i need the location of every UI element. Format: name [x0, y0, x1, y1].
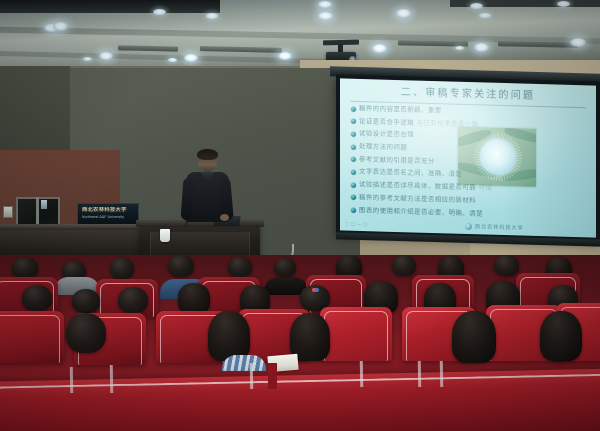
bullet-marker-icon	[351, 119, 356, 124]
seat-gap	[70, 367, 73, 393]
front-seat-row[interactable]	[0, 368, 600, 431]
ceiling-downlight	[206, 13, 218, 19]
slide-bullet-item: 试验描述是否详尽具体、数据是否可靠 可信	[351, 181, 590, 195]
audience-area	[0, 255, 600, 431]
venue-sign-chinese-text: 西北农林科技大学	[82, 207, 135, 213]
ceiling-downlight	[153, 9, 166, 15]
bullet-marker-icon	[351, 157, 356, 162]
projection-screen: 二、审稿专家关注的问题 稿件的内容是否新颖、重要论证是否合乎逻辑 与已有结果是否…	[336, 74, 600, 241]
slide-bullet-item: 处理方法的问题	[351, 143, 590, 157]
venue-sign-english-text: Northwest A&F University	[82, 215, 135, 219]
slide-bullet-text: 试验描述是否详尽具体、数据是否可靠 可信	[359, 181, 492, 192]
audience-head	[110, 258, 134, 279]
slide-bullet-text: 参考文献的引用是否充分	[359, 156, 435, 166]
audience-head	[208, 311, 250, 361]
ceiling-downlight	[278, 52, 292, 60]
presenter	[180, 150, 234, 230]
ceiling-slot	[200, 46, 282, 53]
slide-bullet-item: 参考文献的引用是否充分	[351, 155, 590, 169]
slide-bullet-text: 稿件的内容是否新颖、重要	[359, 105, 442, 115]
seat-gap	[250, 363, 253, 389]
ceiling-slot	[118, 45, 178, 51]
audience-head	[228, 257, 252, 277]
slide-bullet-list: 稿件的内容是否新颖、重要论证是否合乎逻辑 与已有结果是否一致试验设计是否合理处理…	[351, 105, 590, 226]
slide-bullet-item: 稿件的参考文献方法是否相应的新材料	[351, 194, 590, 208]
ceiling-downlight	[396, 9, 411, 18]
presenter-hand	[220, 214, 229, 221]
ceiling-downlight	[168, 58, 177, 62]
slide-bullet-text: 稿件的参考文献方法是否相应的新材料	[359, 194, 476, 205]
slide-footer-logo-icon	[465, 223, 472, 230]
hair-clip	[312, 288, 319, 292]
slide-bullet-item: 文字表达是否名之间、准确、清楚	[351, 168, 590, 182]
ceiling-downlight	[455, 46, 464, 50]
bullet-marker-icon	[351, 195, 356, 200]
seat-gap	[268, 363, 277, 389]
bullet-marker-icon	[351, 132, 356, 137]
slide-bullet-text: 文字表达是否名之间、准确、清楚	[359, 168, 462, 178]
auditorium-seat[interactable]	[320, 307, 392, 361]
bullet-marker-icon	[351, 144, 356, 149]
slide-corner-text: 二〇一〇	[345, 222, 369, 229]
audience-head	[392, 255, 416, 276]
audience-head	[66, 313, 106, 353]
ceiling-downlight	[479, 13, 491, 18]
seat-gap	[418, 361, 421, 387]
bullet-marker-icon	[351, 170, 356, 175]
ceiling-downlight	[99, 52, 113, 60]
slide-bullet-item: 试验设计是否合理	[351, 130, 590, 144]
ceiling-downlight	[557, 1, 570, 7]
slide-bullet-text: 论证是否合乎逻辑 与已有结果是否一致	[359, 118, 479, 129]
audience-head	[178, 283, 210, 313]
lecture-hall-photo: 西北农林科技大学 Northwest A&F University 二、审稿专家…	[0, 0, 600, 431]
ceiling-downlight	[372, 44, 387, 53]
ceiling-slot	[498, 41, 578, 48]
water-cup	[160, 229, 170, 242]
slide-footer-logo: 西北农林科技大学	[465, 223, 524, 232]
ceiling-downlight	[53, 22, 68, 31]
slide-bullet-item: 图表的使用和介绍是否必要、明确、清楚	[351, 206, 590, 220]
ceiling-downlight	[83, 57, 92, 61]
audience-head	[12, 257, 38, 279]
seat-gap	[110, 365, 113, 393]
slide-bullet-text: 处理方法的问题	[359, 143, 407, 152]
bullet-marker-icon	[351, 106, 356, 111]
audience-head	[494, 255, 519, 276]
seat-gap	[360, 361, 363, 387]
seat-gap	[440, 361, 443, 387]
audience-head	[118, 287, 148, 313]
presenter-hair	[197, 149, 218, 160]
audience-head	[22, 285, 52, 311]
slide-footer-text: 西北农林科技大学	[475, 223, 524, 231]
audience-head	[168, 255, 194, 277]
audience-shoulders	[222, 355, 266, 371]
window-light-reflection	[41, 200, 47, 209]
ceiling-downlight	[184, 54, 198, 62]
slide-bullet-text: 图表的使用和介绍是否必要、明确、清楚	[359, 206, 483, 217]
audience-head	[274, 258, 296, 277]
ceiling-downlight	[474, 43, 489, 52]
ceiling-downlight	[470, 3, 483, 9]
venue-wall-sign: 西北农林科技大学 Northwest A&F University	[77, 203, 139, 225]
ceiling-downlight	[318, 12, 333, 20]
front-desk-top	[0, 224, 152, 230]
ceiling-dark-panel	[0, 0, 220, 13]
auditorium-seat[interactable]	[0, 311, 64, 363]
ceiling-downlight	[318, 1, 332, 8]
slide-bullet-subtext: 与已有结果是否一致	[414, 118, 479, 128]
projected-slide: 二、审稿专家关注的问题 稿件的内容是否新颖、重要论证是否合乎逻辑 与已有结果是否…	[340, 78, 596, 237]
ceiling-downlight	[570, 38, 586, 47]
slide-bullet-text: 试验设计是否合理	[359, 130, 414, 139]
audience-head	[452, 311, 496, 363]
slide-bullet-subtext: 可信	[476, 183, 492, 191]
audience-head	[540, 311, 582, 361]
bullet-marker-icon	[351, 208, 356, 213]
slide-bullet-item: 论证是否合乎逻辑 与已有结果是否一致	[351, 117, 590, 131]
bullet-marker-icon	[351, 182, 356, 187]
wall-switch-plate-left[interactable]	[3, 206, 13, 218]
audience-head	[72, 289, 100, 313]
